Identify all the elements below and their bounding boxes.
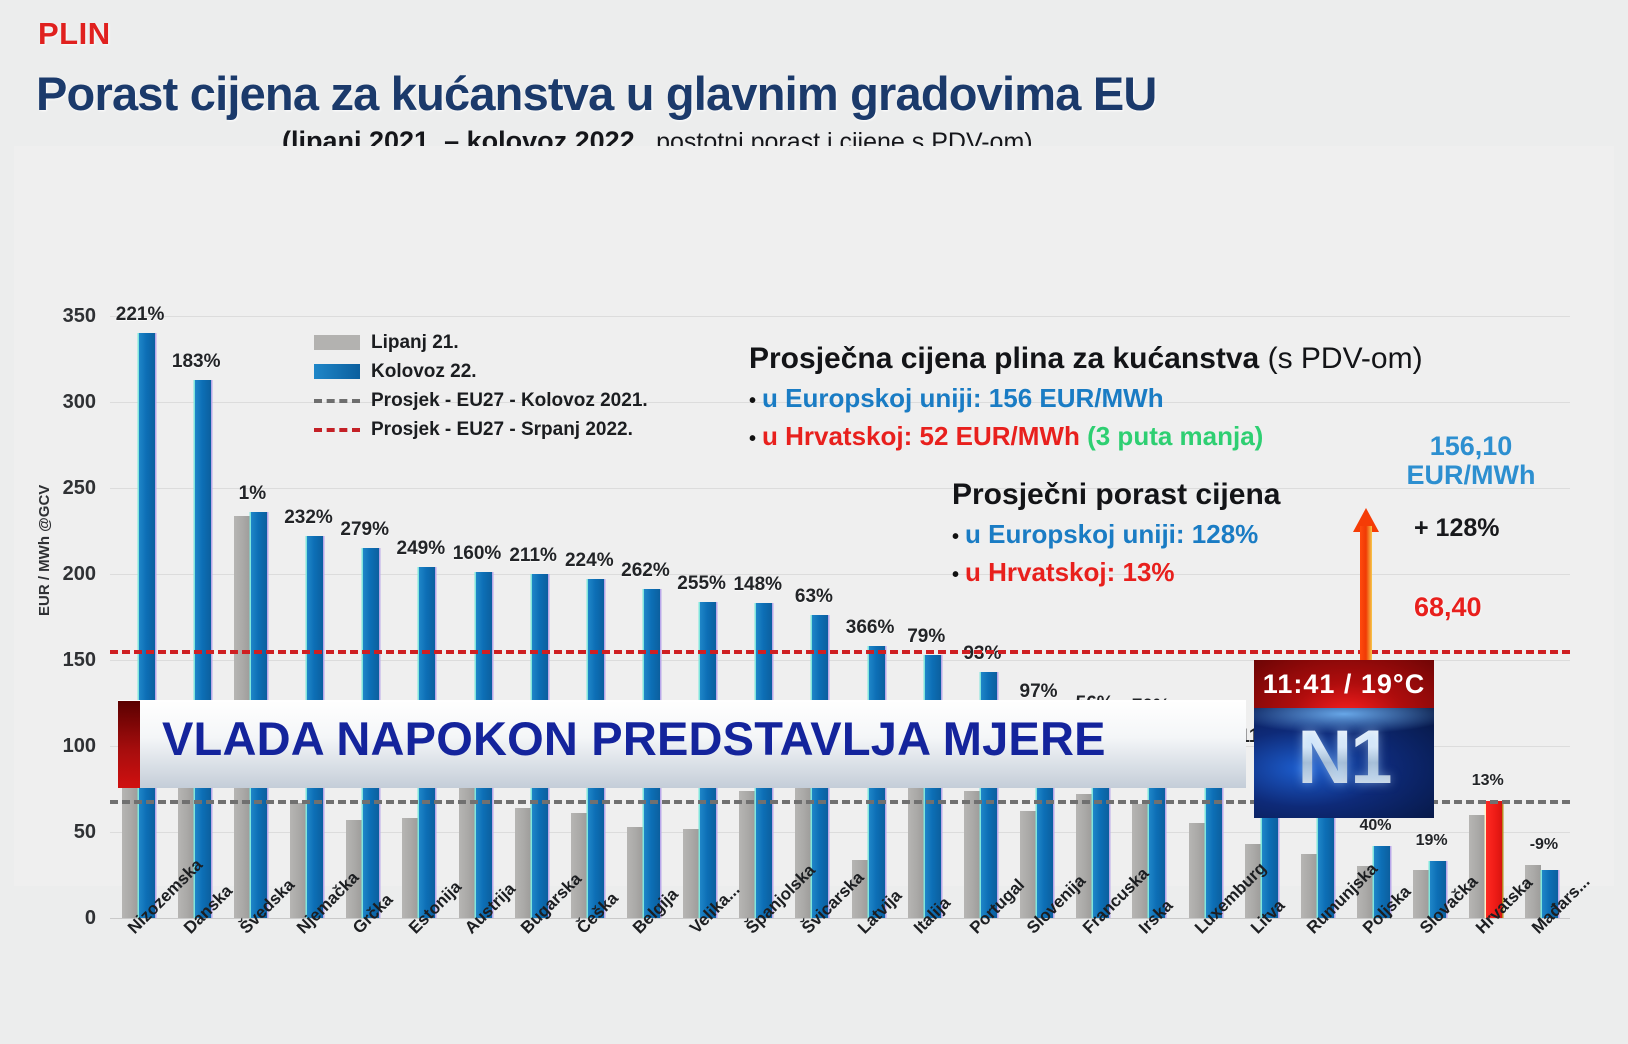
bullet-dot-icon: • (749, 428, 756, 450)
callout-eu-price-value: 156,10 (1396, 432, 1546, 461)
bar-value-label: 93% (963, 643, 1001, 665)
bar-lipanj-21 (908, 770, 924, 918)
news-headline: VLADA NAPOKON PREDSTAVLJA MJERE (162, 711, 1106, 766)
y-axis-tick: 350 (26, 305, 96, 328)
callout-eu-price: 156,10 EUR/MWh (1396, 432, 1546, 490)
bar-value-label: 79% (907, 626, 945, 648)
bar-lipanj-21 (627, 827, 643, 918)
bar-value-label: 255% (677, 573, 726, 595)
bar-lipanj-21 (739, 791, 755, 918)
y-axis-tick: 50 (26, 821, 96, 844)
info-heading-price-bold: Prosječna cijena plina za kućanstva (749, 342, 1268, 375)
bar-value-label: 279% (340, 519, 389, 541)
bar-lipanj-21 (515, 808, 531, 918)
y-axis-tick: 300 (26, 391, 96, 414)
channel-logo: N1 (1254, 708, 1434, 818)
bullet-dot-icon: • (749, 390, 756, 412)
bar-lipanj-21 (683, 829, 699, 918)
bar-value-label: 249% (397, 538, 446, 560)
avg-line-2022 (110, 650, 1570, 654)
legend-label: Lipanj 21. (371, 332, 459, 354)
callout-hr-price: 68,40 (1414, 592, 1482, 623)
chart-legend: Lipanj 21. Kolovoz 22. Prosjek - EU27 - … (314, 328, 648, 444)
legend-label: Prosjek - EU27 - Srpanj 2022. (371, 419, 633, 441)
grey-dash-icon (314, 399, 360, 403)
y-axis-tick: 100 (26, 735, 96, 758)
bar-kolovoz-22 (139, 333, 155, 918)
info-bullet-hr-increase-label: u Hrvatskoj: (965, 557, 1123, 587)
info-bullet-eu-price: •u Europskoj uniji: 156 EUR/MWh (749, 383, 1549, 414)
bar-value-label: 366% (846, 617, 895, 639)
bullet-dot-icon: • (952, 526, 959, 548)
y-axis-title: EUR / MWh @GCV (36, 485, 53, 616)
bar-value-label: 1% (239, 483, 266, 505)
x-axis-labels: NizozemskaDanskaŠvedskaNjemačkaGrčkaEsto… (110, 924, 1570, 1044)
info-bullet-hr-price-note: (3 puta manja) (1087, 421, 1263, 451)
bar-lipanj-21 (1076, 794, 1092, 918)
bar-value-label: -9% (1530, 836, 1558, 854)
info-bullet-eu-increase-value: 128% (1192, 519, 1259, 549)
bar-value-label: 232% (284, 507, 333, 529)
legend-item-kolovoz: Kolovoz 22. (314, 357, 648, 386)
channel-logo-text: N1 (1254, 714, 1434, 801)
bar-lipanj-21 (1413, 870, 1429, 918)
bar-lipanj-21 (1132, 804, 1148, 918)
red-dash-icon (314, 428, 360, 432)
info-bullet-hr-price-label: u Hrvatskoj: (762, 421, 920, 451)
y-axis-tick: 200 (26, 563, 96, 586)
legend-item-prosjek-2021: Prosjek - EU27 - Kolovoz 2021. (314, 386, 648, 415)
bar-value-label: 148% (733, 574, 782, 596)
bar-lipanj-21 (964, 791, 980, 918)
bar-lipanj-21 (571, 813, 587, 918)
bar-value-label: 19% (1416, 832, 1448, 850)
y-axis-tick: 0 (26, 907, 96, 930)
grey-swatch-icon (314, 335, 360, 350)
bar-lipanj-21 (290, 803, 306, 918)
info-bullet-hr-increase-value: 13% (1123, 557, 1175, 587)
bar-value-label: 262% (621, 560, 670, 582)
legend-label: Kolovoz 22. (371, 361, 477, 383)
page-title: Porast cijena za kućanstva u glavnim gra… (36, 66, 1157, 121)
bar-lipanj-21 (1469, 815, 1485, 918)
blue-swatch-icon (314, 364, 360, 379)
callout-eu-price-unit: EUR/MWh (1396, 461, 1546, 490)
gridline (110, 316, 1570, 317)
info-bullet-hr-increase: •u Hrvatskoj: 13% (952, 557, 1572, 588)
y-axis-tick: 150 (26, 649, 96, 672)
bar-value-label: 13% (1472, 772, 1504, 790)
bar-lipanj-21 (402, 818, 418, 918)
legend-item-prosjek-2022: Prosjek - EU27 - Srpanj 2022. (314, 415, 648, 444)
legend-label: Prosjek - EU27 - Kolovoz 2021. (371, 390, 648, 412)
callout-eu-increase: + 128% (1414, 514, 1500, 543)
info-heading-price-thin: (s PDV-om) (1268, 342, 1423, 375)
info-bullet-eu-price-value: 156 EUR/MWh (989, 383, 1164, 413)
bar-value-label: 40% (1359, 817, 1391, 835)
bar-lipanj-21 (1301, 854, 1317, 918)
gridline (110, 832, 1570, 833)
banner-accent-bar (118, 701, 140, 788)
bar-value-label: 63% (795, 586, 833, 608)
bullet-dot-icon: • (952, 564, 959, 586)
bar-value-label: 211% (509, 545, 557, 567)
bar-lipanj-21 (1189, 823, 1205, 918)
bar-lipanj-21 (1020, 811, 1036, 918)
bar-value-label: 224% (565, 550, 614, 572)
info-heading-price: Prosječna cijena plina za kućanstva (s P… (749, 342, 1549, 376)
info-bullet-eu-price-label: u Europskoj uniji: (762, 383, 989, 413)
bar-value-label: 160% (453, 543, 502, 565)
bar-value-label: 221% (116, 304, 165, 326)
news-lower-third: VLADA NAPOKON PREDSTAVLJA MJERE (118, 700, 1246, 788)
info-bullet-hr-price-value: 52 EUR/MWh (920, 421, 1080, 451)
clock-temperature-bar: 11:41 / 19°C (1254, 660, 1434, 711)
kicker-label: PLIN (38, 16, 111, 52)
clock-temperature-text: 11:41 / 19°C (1254, 660, 1434, 708)
y-axis-tick: 250 (26, 477, 96, 500)
bar-value-label: 183% (172, 351, 221, 373)
info-bullet-eu-increase-label: u Europskoj uniji: (965, 519, 1192, 549)
gridline (110, 918, 1570, 919)
legend-item-lipanj: Lipanj 21. (314, 328, 648, 357)
